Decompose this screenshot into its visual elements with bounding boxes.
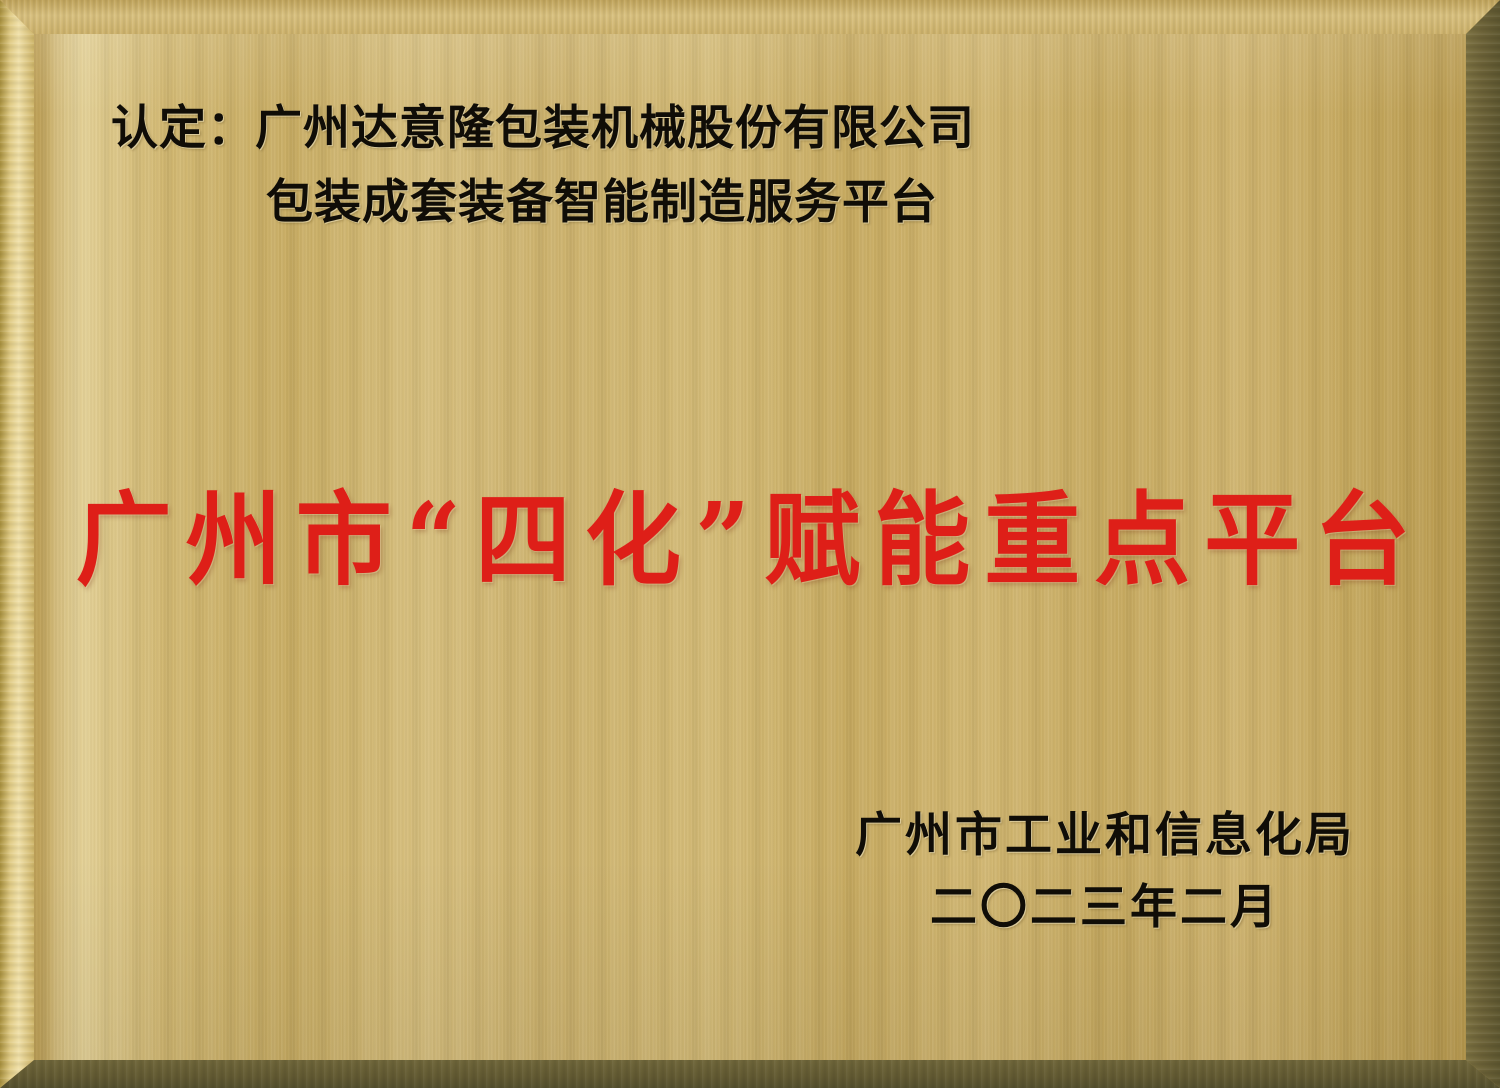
award-title: 广州市“四化”赋能重点平台 [0, 478, 1500, 603]
plaque-content: 认定：广州达意隆包装机械股份有限公司 包装成套装备智能制造服务平台 广州市“四化… [0, 0, 1500, 1088]
certification-line-1: 认定：广州达意隆包装机械股份有限公司 [111, 92, 1311, 166]
issue-date: 二〇二三年二月 [855, 872, 1355, 944]
award-plaque: 认定：广州达意隆包装机械股份有限公司 包装成套装备智能制造服务平台 广州市“四化… [0, 0, 1500, 1088]
issuing-authority: 广州市工业和信息化局 [855, 800, 1355, 872]
certification-line-2: 包装成套装备智能制造服务平台 [111, 166, 1311, 240]
issuer-signature: 广州市工业和信息化局 二〇二三年二月 [855, 800, 1355, 944]
certification-heading: 认定：广州达意隆包装机械股份有限公司 包装成套装备智能制造服务平台 [111, 92, 1311, 240]
